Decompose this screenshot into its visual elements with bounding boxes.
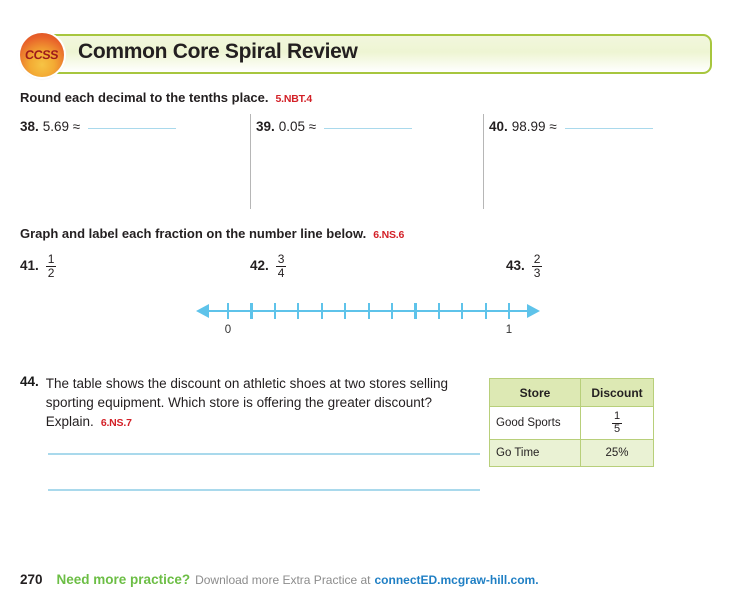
footer-cta-label: Need more practice? [57, 572, 191, 587]
problem-number: 41. [20, 253, 39, 273]
number-line-tick [321, 303, 323, 319]
cell-store-name: Good Sports [490, 407, 581, 440]
footer-url-link[interactable]: connectED.mcgraw-hill.com. [375, 573, 539, 587]
ccss-badge-icon: CCSS [20, 33, 64, 77]
fraction-numerator: 1 [612, 411, 622, 423]
worksheet-page: CCSS Common Core Spiral Review Round eac… [0, 0, 742, 599]
problem-expression: 5.69 ≈ [43, 119, 80, 134]
answer-blank-40[interactable] [565, 127, 653, 129]
arrow-right-icon [527, 304, 540, 318]
column-header-store: Store [490, 379, 581, 407]
number-line-label-start: 0 [225, 324, 231, 336]
fraction-denominator: 4 [276, 266, 287, 280]
page-title: Common Core Spiral Review [78, 40, 358, 64]
number-line-tick [227, 303, 229, 319]
column-header-discount: Discount [581, 379, 654, 407]
problem-expression: 0.05 ≈ [279, 119, 316, 134]
problem-44-text: The table shows the discount on athletic… [46, 374, 464, 431]
standard-label: 6.NS.7 [101, 417, 132, 429]
problem-expression: 98.99 ≈ [512, 119, 557, 134]
page-number: 270 [20, 572, 43, 587]
fraction-one-fifth: 1 5 [612, 411, 622, 436]
discount-table: Store Discount Good Sports 1 5 Go Time 2… [489, 378, 654, 467]
problem-43: 43. 2 3 [506, 253, 542, 280]
problem-38: 38.5.69 ≈ [20, 119, 176, 134]
direction-graph-fractions: Graph and label each fraction on the num… [20, 226, 404, 241]
number-line-tick [344, 303, 346, 319]
problem-number: 40. [489, 119, 508, 134]
answer-line-2[interactable] [48, 489, 480, 491]
table-row: Go Time 25% [490, 439, 654, 466]
number-line[interactable]: 0 1 [196, 300, 540, 322]
problem-42: 42. 3 4 [250, 253, 286, 280]
direction-text: Graph and label each fraction on the num… [20, 226, 366, 241]
fraction-denominator: 5 [612, 423, 622, 436]
fraction-numerator: 2 [532, 253, 543, 266]
problem-number: 38. [20, 119, 39, 134]
fraction-denominator: 2 [46, 266, 57, 280]
standard-label: 6.NS.6 [373, 229, 404, 241]
number-line-tick [274, 303, 276, 319]
problem-number: 39. [256, 119, 275, 134]
cell-store-name: Go Time [490, 439, 581, 466]
footer-description: Download more Extra Practice at [195, 573, 370, 587]
problem-number: 43. [506, 253, 525, 273]
number-line-tick [461, 303, 463, 319]
number-line-tick [391, 303, 393, 319]
problem-44: 44. The table shows the discount on athl… [20, 374, 480, 431]
fraction-numerator: 3 [276, 253, 287, 266]
problem-40: 40.98.99 ≈ [489, 119, 653, 134]
answer-blank-39[interactable] [324, 127, 412, 129]
number-line-tick [297, 303, 299, 319]
cell-discount-value: 25% [581, 439, 654, 466]
problem-39: 39.0.05 ≈ [256, 119, 412, 134]
number-line-tick [414, 303, 416, 319]
direction-round-decimals: Round each decimal to the tenths place.5… [20, 90, 312, 105]
fraction-two-thirds: 2 3 [532, 253, 543, 280]
number-line-tick [438, 303, 440, 319]
direction-text: Round each decimal to the tenths place. [20, 90, 269, 105]
fraction-one-half: 1 2 [46, 253, 57, 280]
column-divider-1 [250, 114, 251, 209]
footer: 270 Need more practice? Download more Ex… [20, 572, 539, 587]
column-divider-2 [483, 114, 484, 209]
number-line-tick [368, 303, 370, 319]
number-line-label-end: 1 [506, 324, 512, 336]
number-line-tick [485, 303, 487, 319]
cell-discount-value: 1 5 [581, 407, 654, 440]
number-line-tick [508, 303, 510, 319]
table-header-row: Store Discount [490, 379, 654, 407]
ccss-badge-label: CCSS [25, 48, 60, 62]
problem-number: 42. [250, 253, 269, 273]
answer-line-1[interactable] [48, 453, 480, 455]
number-line-tick [250, 303, 252, 319]
fraction-numerator: 1 [46, 253, 57, 266]
problem-number: 44. [20, 374, 39, 389]
fraction-three-fourths: 3 4 [276, 253, 287, 280]
table-row: Good Sports 1 5 [490, 407, 654, 440]
problem-41: 41. 1 2 [20, 253, 56, 280]
standard-label: 5.NBT.4 [276, 93, 313, 105]
answer-blank-38[interactable] [88, 127, 176, 129]
fraction-denominator: 3 [532, 266, 543, 280]
